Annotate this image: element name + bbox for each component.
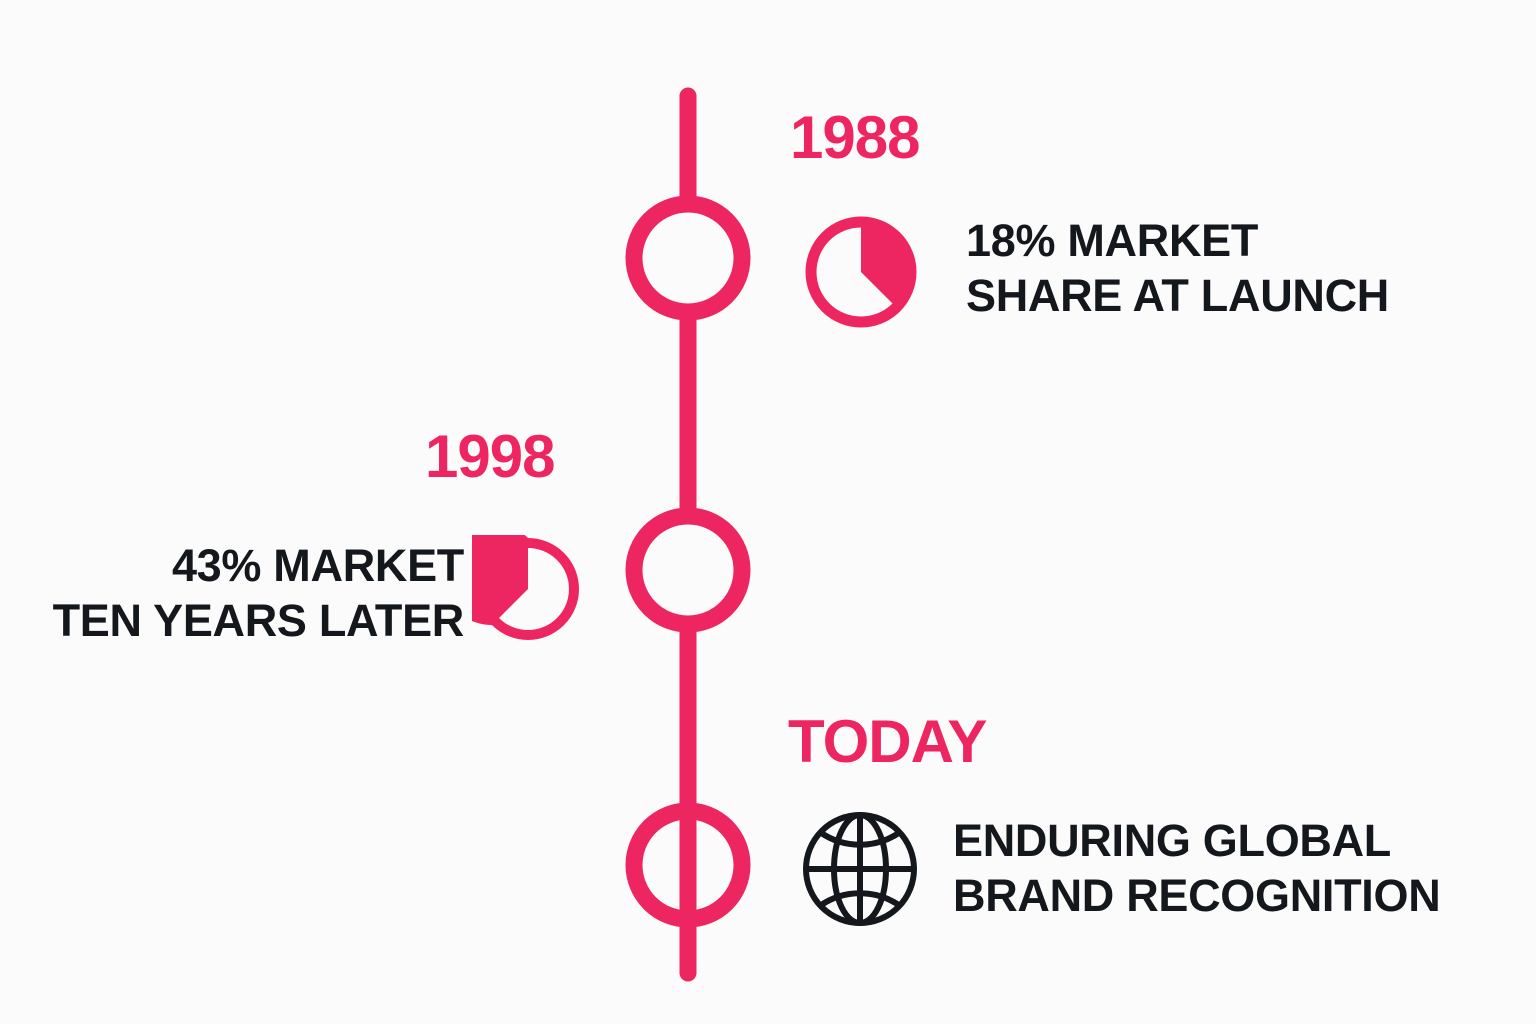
fact-text-today: ENDURING GLOBAL BRAND RECOGNITION	[953, 814, 1440, 924]
globe-icon-wrap	[801, 810, 919, 928]
fact-line: 43% MARKET	[53, 539, 464, 594]
pie-chart-icon	[799, 214, 923, 330]
timeline-infographic: 1988 18% MARKET SHARE AT LAUNCH 1998 43%…	[0, 0, 1536, 1024]
pie-chart-icon-1988-wrap	[799, 214, 923, 330]
timeline-node-1998[interactable]	[634, 516, 742, 624]
fact-line: SHARE AT LAUNCH	[966, 269, 1389, 324]
fact-line: TEN YEARS LATER	[53, 594, 464, 649]
year-label-1988: 1988	[790, 108, 919, 168]
fact-line: ENDURING GLOBAL	[953, 814, 1440, 869]
year-label-1998: 1998	[425, 427, 554, 487]
year-label-today: TODAY	[788, 712, 986, 772]
fact-line: BRAND RECOGNITION	[953, 869, 1440, 924]
pie-chart-icon-1998-wrap	[472, 535, 584, 643]
globe-icon	[801, 810, 919, 928]
pie-chart-icon	[472, 535, 584, 643]
fact-line: 18% MARKET	[966, 214, 1389, 269]
timeline-node-today[interactable]	[634, 811, 742, 919]
timeline-node-1988[interactable]	[634, 204, 742, 312]
fact-text-1988: 18% MARKET SHARE AT LAUNCH	[966, 214, 1389, 324]
fact-text-1998: 43% MARKET TEN YEARS LATER	[53, 539, 464, 649]
